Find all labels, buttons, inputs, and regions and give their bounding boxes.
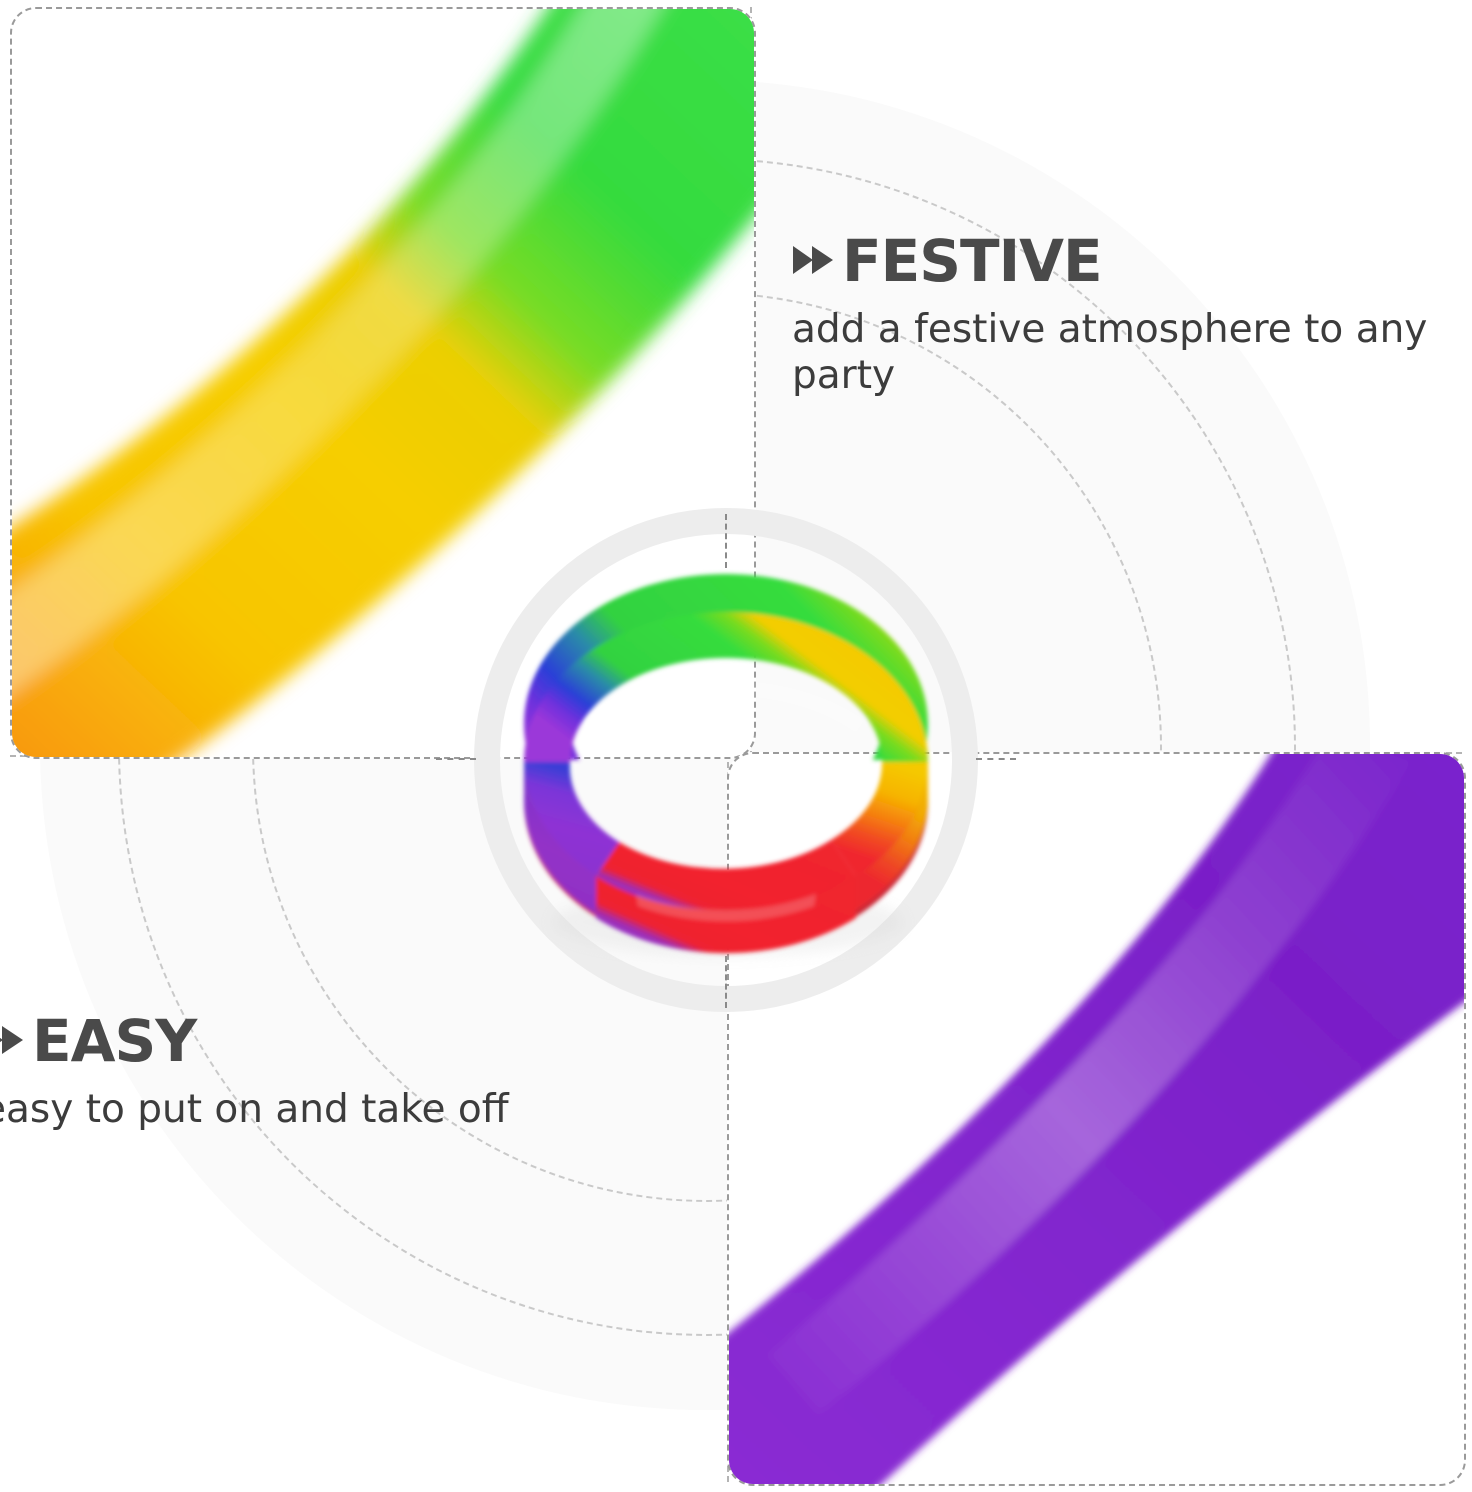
- feature-block-festive: FESTIVE add a festive atmosphere to any …: [792, 232, 1452, 399]
- feature-description-festive: add a festive atmosphere to any party: [792, 307, 1452, 399]
- feature-description-easy: easy to put on and take off: [0, 1087, 602, 1133]
- feature-heading-easy: EASY: [0, 1012, 602, 1071]
- infographic-canvas: FESTIVE add a festive atmosphere to any …: [0, 0, 1472, 1492]
- feature-heading-festive: FESTIVE: [792, 232, 1452, 291]
- fast-forward-icon: [0, 1023, 26, 1060]
- feature-title-festive: FESTIVE: [842, 232, 1102, 291]
- bracelet-ring-graphic: [436, 470, 1016, 1050]
- feature-title-easy: EASY: [32, 1012, 196, 1071]
- feature-block-easy: EASY easy to put on and take off: [0, 1012, 602, 1133]
- fast-forward-icon: [792, 243, 836, 280]
- product-image-rainbow-bracelet: [436, 470, 1016, 1050]
